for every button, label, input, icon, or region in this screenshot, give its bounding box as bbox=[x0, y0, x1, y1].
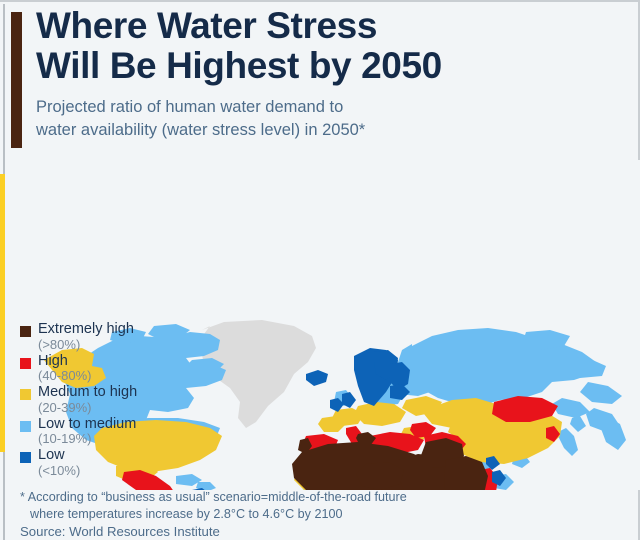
left-accent-rail-yellow bbox=[0, 174, 5, 452]
legend-label-medium-to-high: Medium to high bbox=[38, 385, 137, 400]
legend-item-extremely-high[interactable]: Extremely high (>80%) bbox=[20, 322, 200, 353]
legend-label-low-to-medium: Low to medium bbox=[38, 417, 136, 432]
legend-range-high: (40-80%) bbox=[38, 369, 91, 382]
legend-item-low[interactable]: Low (<10%) bbox=[20, 448, 200, 479]
subtitle-line-2: water availability (water stress level) … bbox=[36, 119, 506, 142]
legend-swatch-low bbox=[20, 452, 31, 463]
legend-range-medium-to-high: (20-39%) bbox=[38, 401, 137, 414]
footnote-line-2: where temperatures increase by 2.8°C to … bbox=[20, 506, 540, 523]
left-rail-lower bbox=[3, 452, 5, 540]
page-subtitle: Projected ratio of human water demand to… bbox=[36, 96, 506, 143]
legend-swatch-low-to-medium bbox=[20, 421, 31, 432]
footnote-line-1: * According to “business as usual” scena… bbox=[20, 490, 407, 504]
legend-range-low-to-medium: (10-19%) bbox=[38, 432, 136, 445]
map-legend: Extremely high (>80%) High (40-80%) Medi… bbox=[20, 322, 200, 480]
title-accent-bar bbox=[11, 12, 22, 148]
legend-item-low-to-medium[interactable]: Low to medium (10-19%) bbox=[20, 417, 200, 448]
legend-label-high: High bbox=[38, 354, 91, 369]
legend-label-low: Low bbox=[38, 448, 80, 463]
page-title: Where Water Stress Will Be Highest by 20… bbox=[36, 6, 626, 86]
left-rail-upper bbox=[3, 4, 5, 176]
infographic-page: Where Water Stress Will Be Highest by 20… bbox=[0, 0, 640, 540]
footnote: * According to “business as usual” scena… bbox=[20, 489, 540, 524]
title-line-2: Will Be Highest by 2050 bbox=[36, 46, 626, 86]
title-line-1: Where Water Stress bbox=[36, 5, 377, 46]
legend-label-extremely-high: Extremely high bbox=[38, 322, 134, 337]
legend-swatch-medium-to-high bbox=[20, 389, 31, 400]
source-attribution: Source: World Resources Institute bbox=[20, 524, 220, 539]
legend-range-low: (<10%) bbox=[38, 464, 80, 477]
legend-swatch-extremely-high bbox=[20, 326, 31, 337]
legend-item-medium-to-high[interactable]: Medium to high (20-39%) bbox=[20, 385, 200, 416]
legend-range-extremely-high: (>80%) bbox=[38, 338, 134, 351]
subtitle-line-1: Projected ratio of human water demand to bbox=[36, 98, 343, 116]
legend-swatch-high bbox=[20, 358, 31, 369]
legend-item-high[interactable]: High (40-80%) bbox=[20, 354, 200, 385]
